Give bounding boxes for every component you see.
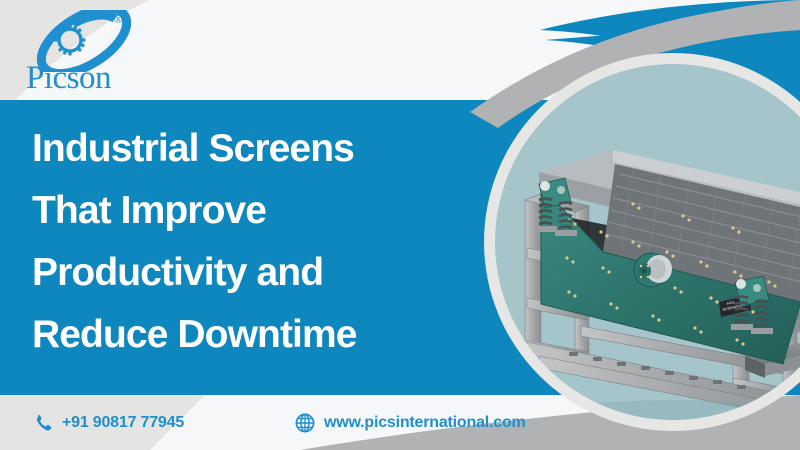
headline: Industrial Screens That Improve Producti…: [32, 118, 462, 366]
phone-number-label: +91 90817 77945: [62, 414, 184, 432]
website-url-label: www.picsinternational.com: [324, 414, 526, 432]
website-contact[interactable]: www.picsinternational.com: [295, 413, 526, 433]
globe-icon: [295, 413, 315, 433]
product-photo-circle: PICS INTERNATIONAL: [483, 52, 800, 432]
brand-logo[interactable]: ® Picson: [22, 8, 172, 100]
brand-name: Picson: [26, 60, 111, 97]
contact-footer: +91 90817 77945 www.picsinternational.co…: [0, 395, 800, 450]
headline-line-4: Reduce Downtime: [32, 304, 462, 366]
phone-icon: [33, 413, 53, 433]
marketing-banner: PICS INTERNATIONAL: [0, 0, 800, 450]
headline-line-2: That Improve: [32, 180, 462, 242]
registered-trademark-symbol: ®: [114, 14, 122, 26]
headline-line-3: Productivity and: [32, 242, 462, 304]
headline-line-1: Industrial Screens: [32, 118, 462, 180]
phone-contact[interactable]: +91 90817 77945: [33, 413, 184, 433]
